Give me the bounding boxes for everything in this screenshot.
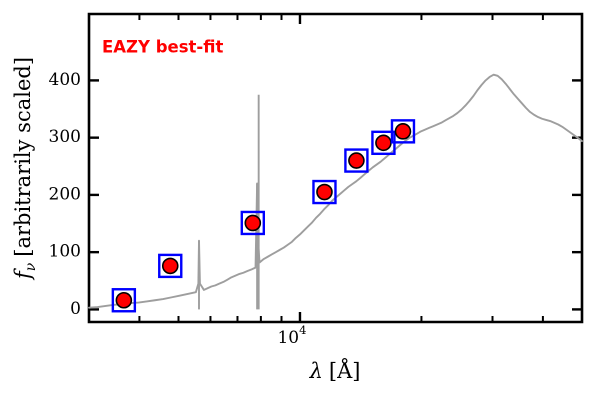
sed-plot-svg: 104 0100200300400 EAZY best-fit λ[Å] fν[… [0,0,600,400]
x-axis-label-unit: [Å] [329,358,361,383]
x-tick-label-base: 10 [277,328,299,348]
y-tick-label: 400 [49,70,81,90]
y-tick-label: 200 [49,184,81,204]
x-axis-label-lambda: λ [309,359,323,383]
eazy-best-fit-annotation: EAZY best-fit [102,38,223,57]
photometry-marker [395,124,410,139]
y-axis-label-rest: [arbitrarily scaled] [11,57,35,257]
y-tick-label: 100 [49,242,81,262]
photometry-marker [376,135,391,150]
photometry-marker [317,185,332,200]
y-tick-label: 0 [70,299,81,319]
y-axis-label-nu: ν [23,262,39,271]
photometry-marker [245,215,260,230]
photometry-marker [163,258,178,273]
photometry-marker [116,293,131,308]
x-axis-label: λ[Å] [309,358,361,383]
sed-figure: 104 0100200300400 EAZY best-fit λ[Å] fν[… [0,0,600,400]
y-tick-label: 300 [49,127,81,147]
x-tick-label-exponent: 4 [299,323,306,337]
photometry-marker [349,153,364,168]
y-axis-label: fν[arbitrarily scaled] [11,57,39,281]
